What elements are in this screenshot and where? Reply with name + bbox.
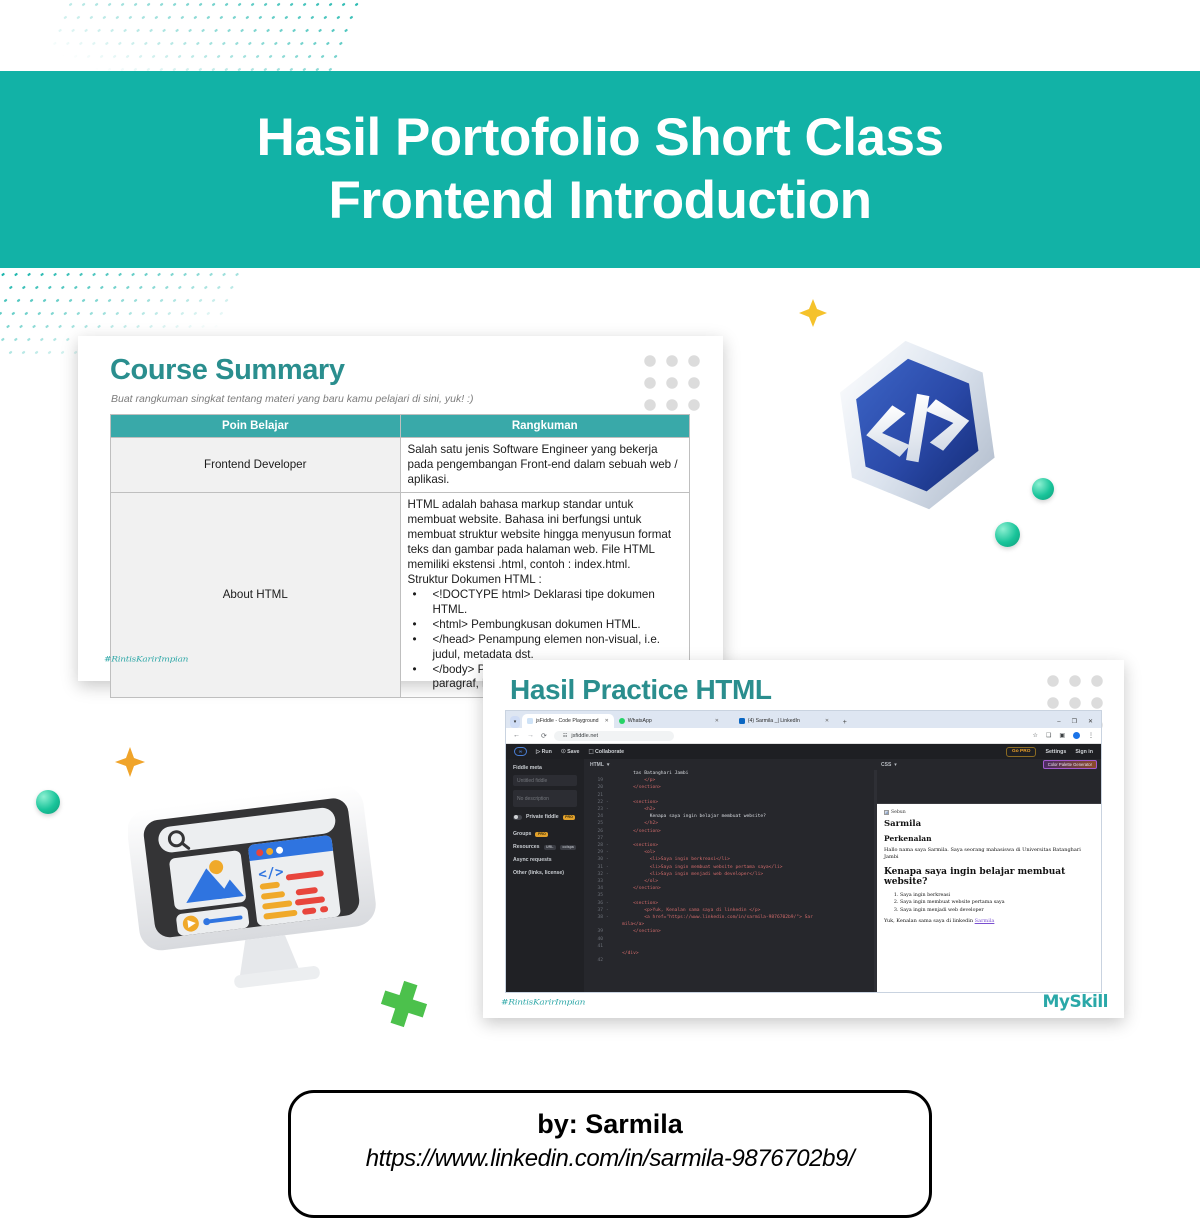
monitor-3d-icon: </> <box>128 786 393 1026</box>
code-line: </div> <box>588 950 877 957</box>
close-window-button[interactable]: ✕ <box>1088 718 1093 725</box>
code-text: <section> <box>611 842 658 849</box>
fold-marker[interactable] <box>606 943 611 950</box>
line-number: 35 <box>588 892 603 899</box>
code-line: 41 <box>588 943 877 950</box>
line-number: 30 <box>588 856 603 863</box>
go-pro-button[interactable]: Go PRO <box>1006 747 1036 757</box>
code-line: 24 Kenapa saya ingin belajar membuat web… <box>588 813 877 820</box>
sidebar-heading: Fiddle meta <box>513 765 577 771</box>
author-linkedin-url: https://www.linkedin.com/in/sarmila-9876… <box>366 1145 855 1173</box>
fold-marker[interactable] <box>606 957 611 964</box>
row-summary-text: Salah satu jenis Software Engineer yang … <box>400 438 690 493</box>
column-header-rangkuman: Rangkuman <box>400 415 690 438</box>
tab-search-icon[interactable]: ▾ <box>510 716 520 728</box>
course-summary-title: Course Summary <box>110 354 345 387</box>
practice-card-title: Hasil Practice HTML <box>510 674 772 706</box>
course-summary-card: Course Summary Buat rangkuman singkat te… <box>78 336 723 681</box>
line-number: 22 <box>588 799 603 806</box>
dot-pattern-top <box>33 0 377 82</box>
browser-tab-strip: ▾ jsFiddle - Code Playground ✕ WhatsApp … <box>506 711 1101 728</box>
line-number: 28 <box>588 842 603 849</box>
tab-label: WhatsApp <box>628 718 652 724</box>
run-button[interactable]: ▷ Run <box>536 749 552 755</box>
code-line: 35 <box>588 892 877 899</box>
code-line: 23- <h2> <box>588 806 877 813</box>
preview-intro-paragraph: Hallo nama saya Sarmila. Saya seorang ma… <box>884 847 1094 861</box>
url-text: jsfiddle.net <box>571 733 598 739</box>
downloads-icon[interactable]: ❑ <box>1046 732 1051 739</box>
address-bar[interactable]: ☷ jsfiddle.net <box>554 731 674 741</box>
code-line: 33 </ol> <box>588 878 877 885</box>
settings-button[interactable]: Settings <box>1045 749 1066 755</box>
code-line: 36- <section> <box>588 900 877 907</box>
line-number: 40 <box>588 936 603 943</box>
line-number: 29 <box>588 849 603 856</box>
line-number: 31 <box>588 864 603 871</box>
browser-menu-icon[interactable]: ⋮ <box>1088 732 1094 739</box>
reload-icon[interactable]: ⟳ <box>541 732 547 740</box>
new-tab-button[interactable]: + <box>843 719 847 728</box>
window-controls: – ❐ ✕ <box>1057 718 1101 728</box>
sidebar-item-other[interactable]: Other (links, license) <box>513 870 577 876</box>
decorative-sphere <box>36 790 60 814</box>
sign-in-button[interactable]: Sign in <box>1075 749 1093 755</box>
author-signature-box: by: Sarmila https://www.linkedin.com/in/… <box>288 1090 932 1218</box>
banner-title-line-1: Hasil Portofolio Short Class <box>257 107 944 170</box>
favicon-linkedin <box>739 718 745 724</box>
tab-close-icon[interactable]: ✕ <box>715 718 719 724</box>
list-item: Saya ingin membuat website pertama saya <box>900 899 1094 906</box>
fiddle-description-input[interactable]: No description <box>513 790 577 807</box>
fold-marker[interactable] <box>606 835 611 842</box>
jsfiddle-logo-icon[interactable]: ∞ <box>514 747 527 756</box>
collaborate-icon: ⬚ <box>588 749 593 755</box>
list-item: </head> Penampung elemen non-visual, i.e… <box>408 633 683 663</box>
tab-close-icon[interactable]: ✕ <box>605 718 609 724</box>
css-and-preview-column: CSS ▾ Color Palette Generator Sebun Sarm… <box>877 759 1101 993</box>
preview-name-heading: Sarmila <box>884 819 1094 829</box>
table-row: Frontend Developer Salah satu jenis Soft… <box>111 438 690 493</box>
code-line: 22- <section> <box>588 799 877 806</box>
line-number: 33 <box>588 878 603 885</box>
result-preview-pane: Sebun Sarmila Perkenalan Hallo nama saya… <box>877 803 1101 993</box>
preview-closing-paragraph: Yuk, Kenalan sama saya di linkedin Sarmi… <box>884 918 1094 925</box>
code-text: <h2> <box>611 806 655 813</box>
code-line: 31- <li>Saya ingin membuat website perta… <box>588 864 877 871</box>
code-line: 25 </h2> <box>588 820 877 827</box>
line-number: 19 <box>588 777 603 784</box>
code-line: 39 </section> <box>588 928 877 935</box>
forward-icon[interactable]: → <box>527 732 534 739</box>
broken-image-alt-text: Sebun <box>891 810 906 815</box>
tab-close-icon[interactable]: ✕ <box>825 718 829 724</box>
tab-whatsapp[interactable]: WhatsApp ✕ <box>614 714 734 728</box>
preview-section-heading: Perkenalan <box>884 834 1094 843</box>
title-banner: Hasil Portofolio Short Class Frontend In… <box>0 71 1200 268</box>
private-fiddle-toggle[interactable] <box>513 815 522 820</box>
minimize-button[interactable]: – <box>1057 719 1060 725</box>
broken-image-icon <box>884 810 889 815</box>
bookmark-star-icon[interactable]: ☆ <box>1033 732 1038 739</box>
code-text: </section> <box>611 928 661 935</box>
line-number: 27 <box>588 835 603 842</box>
preview-reason-list: Saya ingin berkreasi Saya ingin membuat … <box>900 892 1094 914</box>
broken-image-placeholder: Sebun <box>884 810 906 815</box>
decorative-sphere <box>995 522 1020 547</box>
code-line: 21 <box>588 792 877 799</box>
code-text: <a href="https://www.linkedin.com/in/sar… <box>611 914 813 921</box>
maximize-button[interactable]: ❐ <box>1072 718 1077 725</box>
favicon-whatsapp <box>619 718 625 724</box>
line-number <box>588 921 603 928</box>
code-line: 38- <a href="https://www.linkedin.com/in… <box>588 914 877 921</box>
code-text: <section> <box>611 900 658 907</box>
line-number: 37 <box>588 907 603 914</box>
line-number: 34 <box>588 885 603 892</box>
practice-html-card: Hasil Practice HTML ▾ jsFiddle - Code Pl… <box>483 660 1124 1018</box>
list-item: <!DOCTYPE html> Deklarasi tipe dokumen H… <box>408 588 683 618</box>
code-text: Kenapa saya ingin belajar membuat websit… <box>611 813 766 820</box>
fiddle-title-input[interactable]: Untitled fiddle <box>513 775 577 786</box>
line-number: 36 <box>588 900 603 907</box>
back-icon[interactable]: ← <box>513 732 520 739</box>
private-fiddle-label: Private fiddle <box>526 814 559 820</box>
row-summary-text: HTML adalah bahasa markup standar untuk … <box>408 498 683 572</box>
row-summary-subhead: Struktur Dokumen HTML : <box>408 573 683 588</box>
run-icon: ▷ <box>536 749 540 755</box>
line-number: 24 <box>588 813 603 820</box>
code-line: 29- <ol> <box>588 849 877 856</box>
code-text: </section> <box>611 885 661 892</box>
watermark-hashtag: #RintisKarirImpian <box>104 656 188 665</box>
private-fiddle-toggle-row[interactable]: Private fiddle PRO <box>513 814 577 820</box>
column-header-poin-belajar: Poin Belajar <box>111 415 401 438</box>
save-icon: ☉ <box>561 749 566 755</box>
save-label: Save <box>567 749 579 755</box>
tab-label: (4) Sarmila _| LinkedIn <box>748 718 800 724</box>
course-summary-subtitle: Buat rangkuman singkat tentang materi ya… <box>111 393 473 405</box>
html-panel-header[interactable]: HTML ▾ <box>584 759 877 770</box>
myskill-logo: MySkill <box>1042 992 1108 1012</box>
row-point-label: About HTML <box>111 493 401 698</box>
table-header-row: Poin Belajar Rangkuman <box>111 415 690 438</box>
code-line: 34 </section> <box>588 885 877 892</box>
jsfiddle-workspace: Fiddle meta Untitled fiddle No descripti… <box>506 759 1101 993</box>
site-info-icon[interactable]: ☷ <box>563 733 567 739</box>
url-badge: URL <box>544 845 556 850</box>
code-line: tas Batanghari Jambi <box>588 770 877 777</box>
chevron-down-icon[interactable]: ▾ <box>607 762 610 768</box>
save-button[interactable]: ☉ Save <box>561 749 580 755</box>
plus-green-icon <box>378 978 430 1030</box>
sidebar-item-label: Groups <box>513 831 531 837</box>
code-text: <li>Saya ingin menjadi web developer</li… <box>611 871 763 878</box>
code-text: mila</a> <box>611 921 644 928</box>
tab-jsfiddle[interactable]: jsFiddle - Code Playground ✕ <box>522 714 614 728</box>
browser-window-screenshot: ▾ jsFiddle - Code Playground ✕ WhatsApp … <box>505 710 1102 993</box>
code-line: 27 <box>588 835 877 842</box>
line-number: 23 <box>588 806 603 813</box>
code-text: <section> <box>611 799 658 806</box>
line-number: 20 <box>588 784 603 791</box>
preview-closing-text: Yuk, Kenalan sama saya di linkedin <box>884 918 975 924</box>
code-text: </h2> <box>611 820 658 827</box>
sparkle-yellow-icon <box>797 297 829 329</box>
chevron-down-icon[interactable]: ▾ <box>894 762 897 768</box>
run-label: Run <box>542 749 552 755</box>
fold-marker[interactable] <box>606 892 611 899</box>
code-text: </p> <box>611 777 655 784</box>
code-text: <li>Saya ingin membuat website pertama s… <box>611 864 782 871</box>
sidebar-item-label: Other (links, license) <box>513 870 564 876</box>
browser-omnibox-bar: ← → ⟳ ☷ jsfiddle.net ☆ ❑ ▣ ⋮ <box>506 728 1101 744</box>
line-number: 21 <box>588 792 603 799</box>
sidebar-item-groups[interactable]: Groups PRO <box>513 831 577 837</box>
line-number: 41 <box>588 943 603 950</box>
line-number: 42 <box>588 957 603 964</box>
list-item: Saya ingin menjadi web developer <box>900 907 1094 914</box>
list-item: Saya ingin berkreasi <box>900 892 1094 899</box>
preview-question-heading: Kenapa saya ingin belajar membuat websit… <box>884 867 1094 887</box>
html-editor-panel[interactable]: HTML ▾ tas Batanghari Jambi19 </p>20 </s… <box>584 759 877 993</box>
line-number: 32 <box>588 871 603 878</box>
sidebar-item-label: Resources <box>513 844 540 850</box>
line-number: 38 <box>588 914 603 921</box>
colspa-badge: colspa <box>560 845 576 850</box>
code-line: mila</a> <box>588 921 877 928</box>
code-text: </ol> <box>611 878 658 885</box>
code-text: <li>Saya ingin berkreasi</li> <box>611 856 730 863</box>
collaborate-button[interactable]: ⬚ Collaborate <box>588 749 624 755</box>
html-code-lines[interactable]: tas Batanghari Jambi19 </p>20 </section>… <box>584 770 877 964</box>
css-panel-label: CSS <box>881 762 891 768</box>
line-number: 25 <box>588 820 603 827</box>
decorative-sphere <box>1032 478 1054 500</box>
favicon-jsfiddle <box>527 718 533 724</box>
code-line: 19 </p> <box>588 777 877 784</box>
list-item: <html> Pembungkusan dokumen HTML. <box>408 618 683 633</box>
tab-linkedin[interactable]: (4) Sarmila _| LinkedIn ✕ <box>734 714 839 728</box>
sidebar-item-resources[interactable]: Resources URL colspa <box>513 844 577 850</box>
omnibox-actions: ☆ ❑ ▣ ⋮ <box>1033 732 1094 739</box>
pro-badge: PRO <box>563 815 576 820</box>
code-line: 40 <box>588 936 877 943</box>
css-panel-header[interactable]: CSS ▾ Color Palette Generator <box>877 759 1101 770</box>
code-text: <ol> <box>611 849 655 856</box>
tab-label: jsFiddle - Code Playground <box>536 718 599 724</box>
html-panel-label: HTML <box>590 762 604 768</box>
editor-scrollbar[interactable] <box>874 770 877 993</box>
collaborate-label: Collaborate <box>595 749 624 755</box>
line-number <box>588 950 603 957</box>
preview-linkedin-link[interactable]: Sarmila <box>975 918 995 924</box>
sparkle-orange-icon <box>113 745 147 779</box>
code-text: </section> <box>611 828 661 835</box>
jsfiddle-toolbar-right: Go PRO Settings Sign in <box>1006 747 1093 757</box>
line-number: 39 <box>588 928 603 935</box>
code-badge-3d-icon <box>818 330 1018 526</box>
course-summary-table: Poin Belajar Rangkuman Frontend Develope… <box>110 414 690 698</box>
code-line: 26 </section> <box>588 828 877 835</box>
dot-grid-decoration <box>639 350 709 420</box>
code-text: </div> <box>611 950 639 957</box>
fold-marker[interactable] <box>606 936 611 943</box>
fold-marker[interactable] <box>606 792 611 799</box>
sidebar-item-async-requests[interactable]: Async requests <box>513 857 577 863</box>
sidebar-item-label: Async requests <box>513 857 552 863</box>
author-name: by: Sarmila <box>537 1109 683 1140</box>
row-point-label: Frontend Developer <box>111 438 401 493</box>
profile-avatar-icon[interactable] <box>1073 732 1080 739</box>
jsfiddle-toolbar: ∞ ▷ Run ☉ Save ⬚ Collaborate Go PRO Sett… <box>506 744 1101 759</box>
code-text: tas Batanghari Jambi <box>611 770 688 777</box>
line-number: 26 <box>588 828 603 835</box>
css-editor-area[interactable] <box>877 770 1101 803</box>
code-line: 37- <p>Yuk, Kenalan sama saya di linkedi… <box>588 907 877 914</box>
code-text: <p>Yuk, Kenalan sama saya di linkedin </… <box>611 907 760 914</box>
jsfiddle-sidebar: Fiddle meta Untitled fiddle No descripti… <box>506 759 584 993</box>
code-text: </section> <box>611 784 661 791</box>
code-line: 30- <li>Saya ingin berkreasi</li> <box>588 856 877 863</box>
color-palette-generator-button[interactable]: Color Palette Generator <box>1043 760 1097 769</box>
svg-text:</>: </> <box>257 864 284 883</box>
watermark-hashtag: #RintisKarirImpian <box>501 999 585 1008</box>
extensions-icon[interactable]: ▣ <box>1059 732 1065 739</box>
code-line: 20 </section> <box>588 784 877 791</box>
pro-badge: PRO <box>535 832 548 837</box>
line-number <box>588 770 603 777</box>
code-line: 32- <li>Saya ingin menjadi web developer… <box>588 871 877 878</box>
code-line: 42 <box>588 957 877 964</box>
banner-title-line-2: Frontend Introduction <box>329 170 872 233</box>
code-line: 28- <section> <box>588 842 877 849</box>
